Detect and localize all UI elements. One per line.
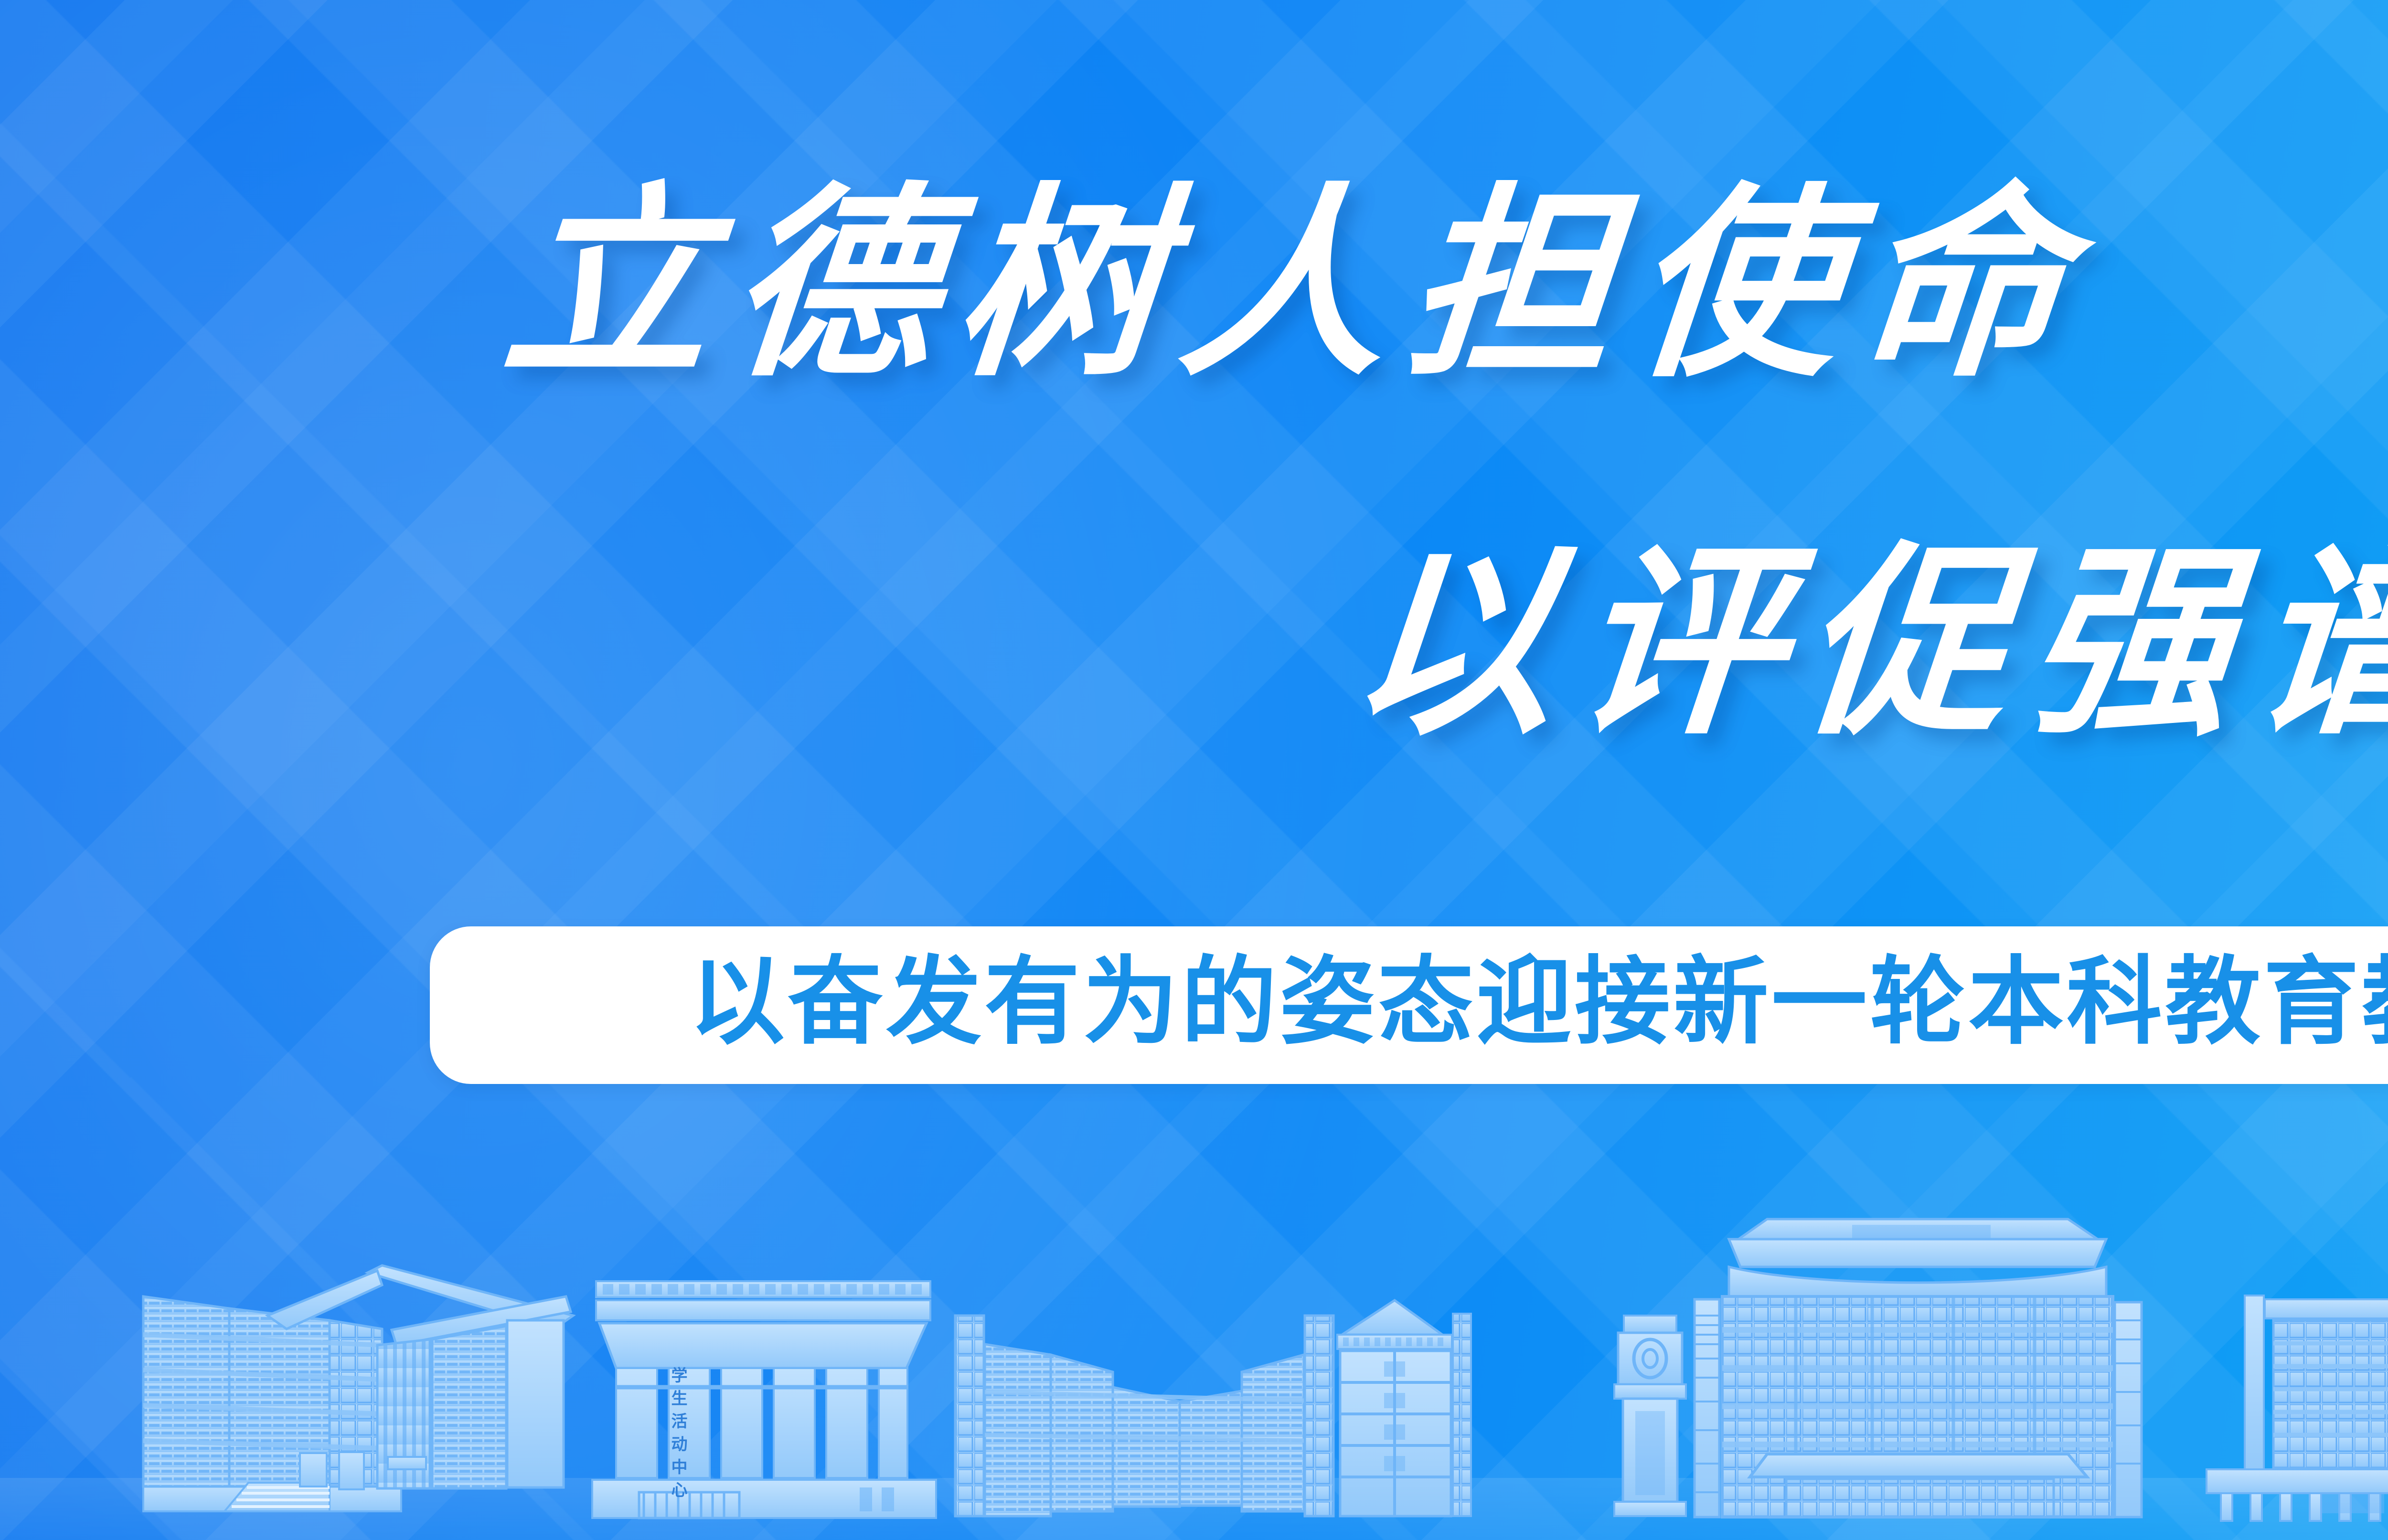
slogan-text: 以奋发有为的姿态迎接新一轮本科教育教学审核评估！	[689, 955, 2388, 1050]
building-clock-tower	[1614, 1316, 1686, 1516]
evaluation-banner: 学生活动中心 丝绸博物馆 桂花园 立德树人担使命 以评促强谱新篇 以奋发有为的姿…	[0, 0, 2388, 1540]
building-auditorium	[592, 1281, 936, 1518]
campus-skyline	[0, 1177, 2388, 1540]
slogan-pill: 以奋发有为的姿态迎接新一轮本科教育教学审核评估！	[430, 926, 2388, 1084]
building-slab-block	[2207, 1296, 2388, 1521]
building-main-tower	[1695, 1219, 2142, 1517]
headline-line-2: 以评促强谱新篇	[1343, 540, 2388, 745]
headline-line-1: 立德树人担使命	[497, 181, 2093, 387]
